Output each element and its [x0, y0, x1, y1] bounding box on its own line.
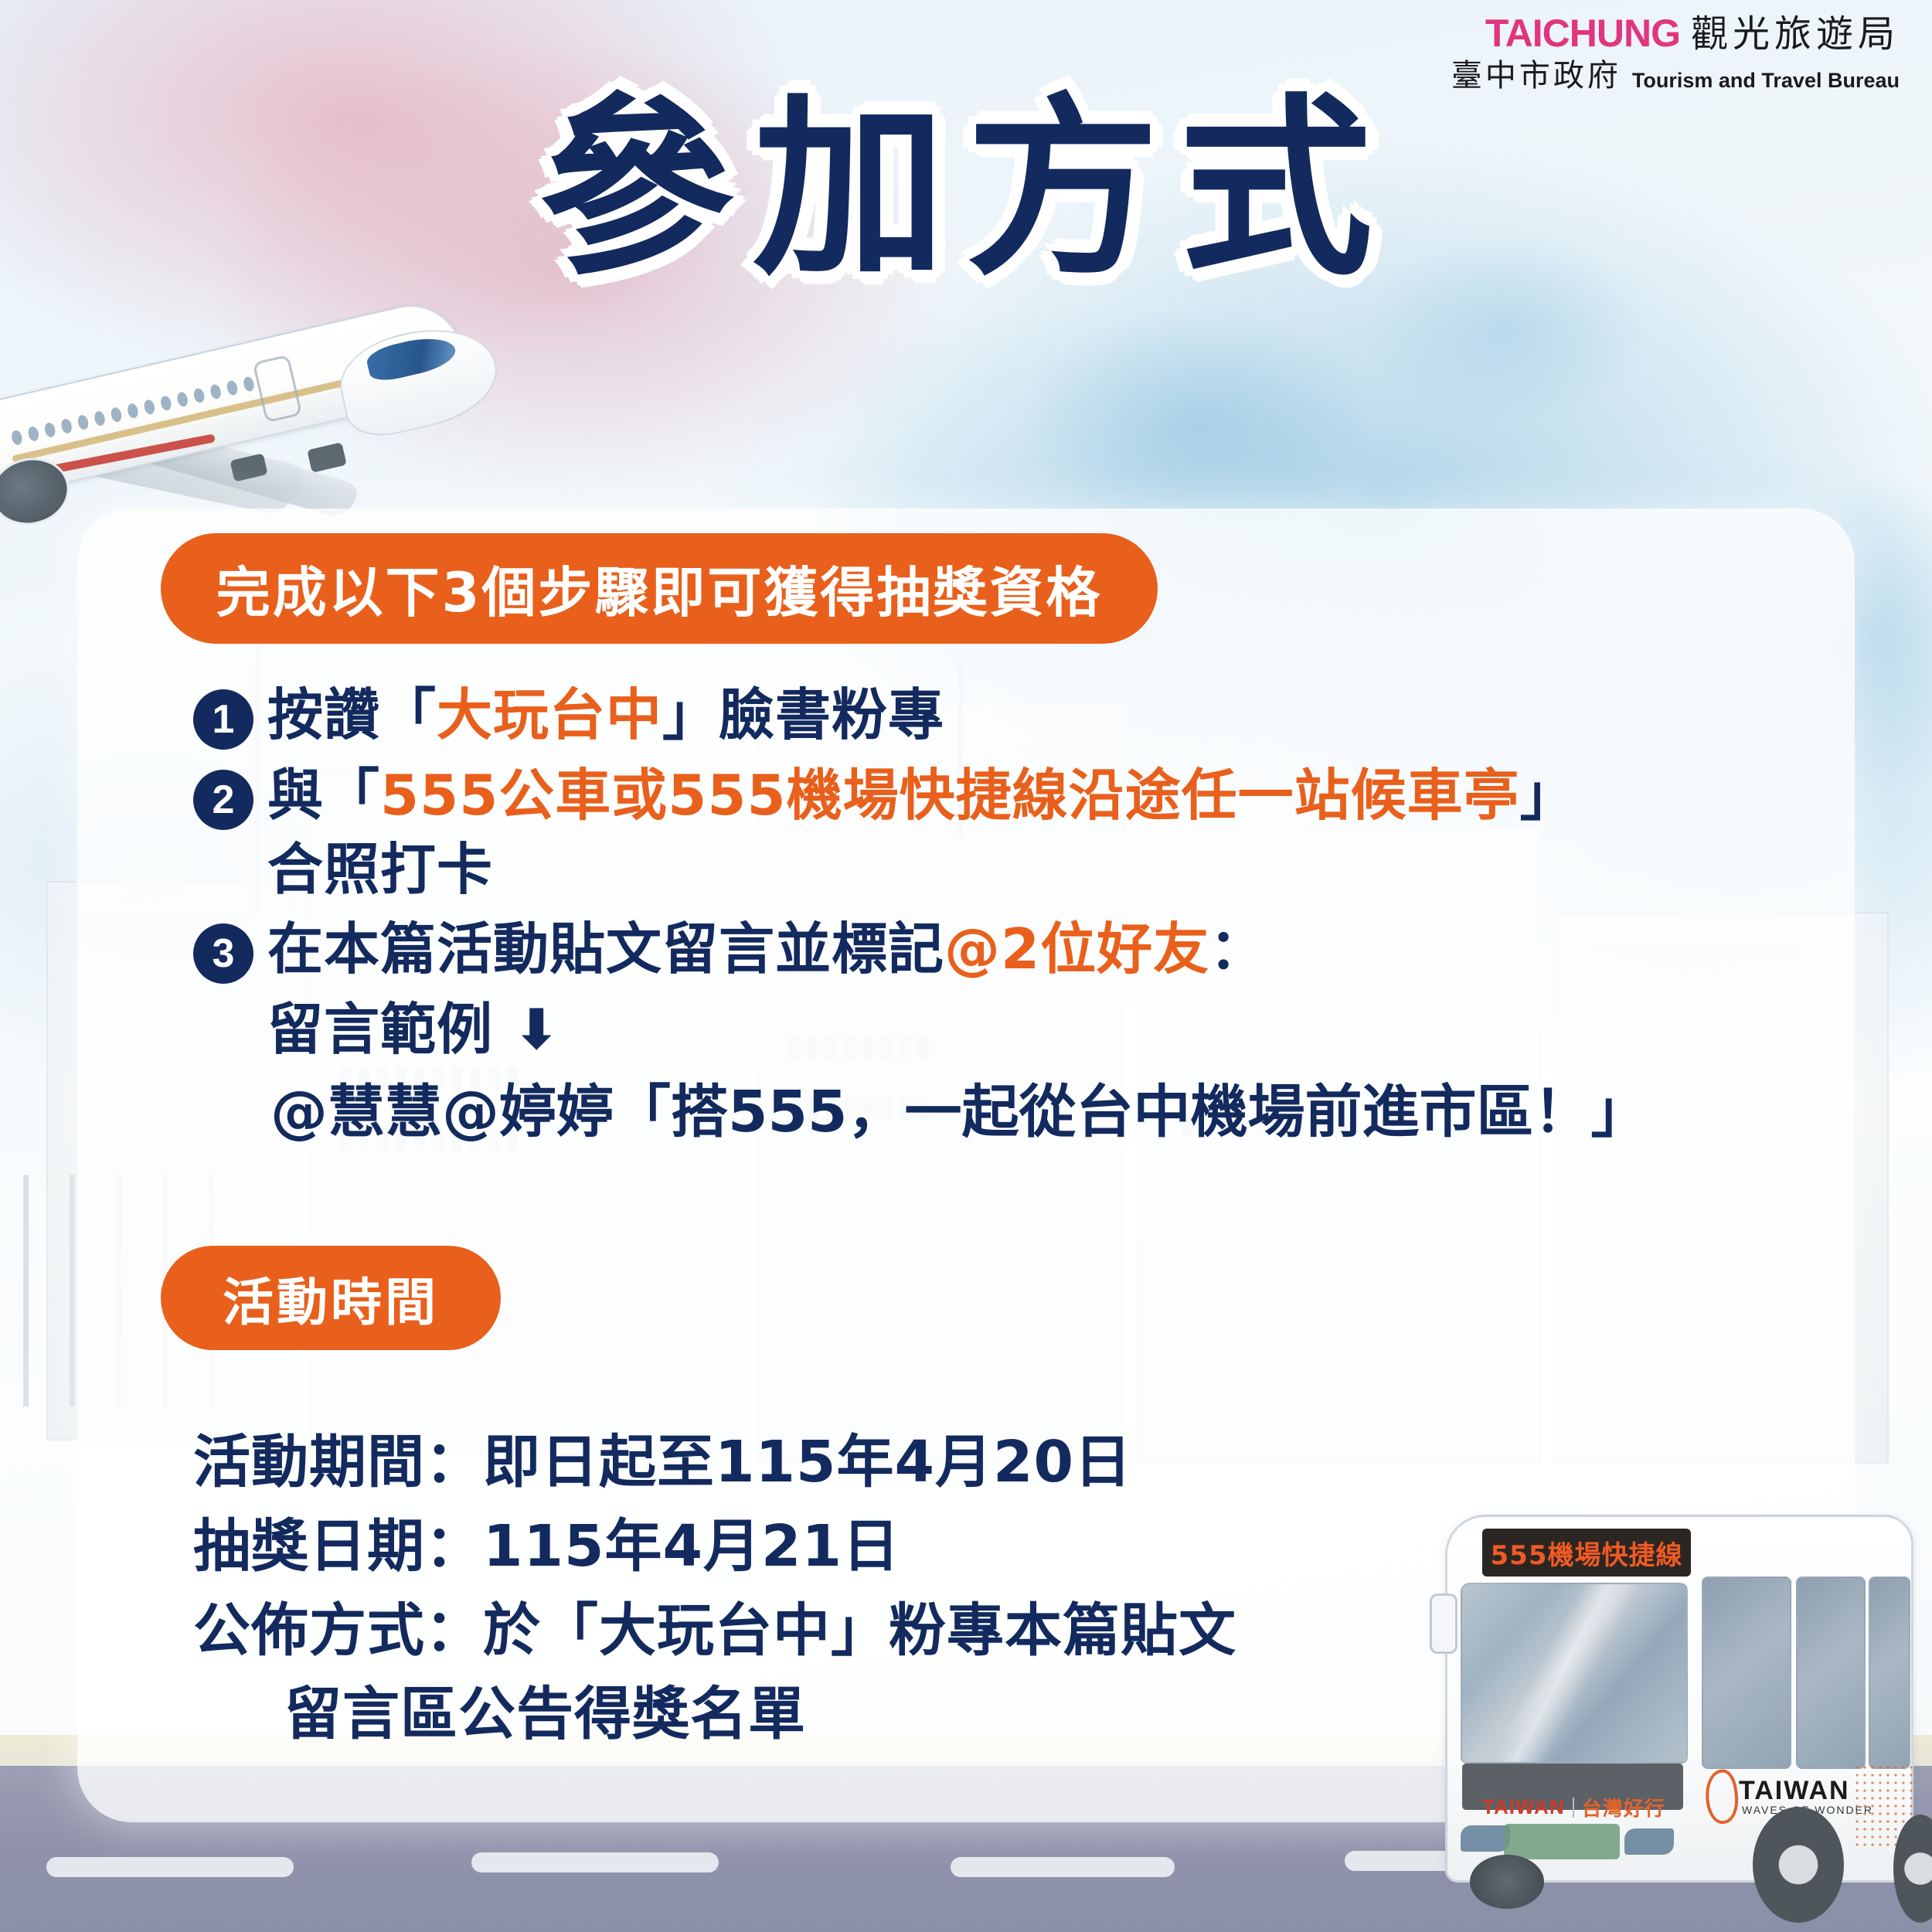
schedule-line-announcement: 公佈方式：於「大玩台中」粉專本篇貼文: [193, 1589, 1236, 1673]
logo-bureau-cn: 觀光旅遊局: [1691, 15, 1900, 53]
step-number-2: 2: [193, 770, 253, 830]
step-2-second-line: 合照打卡: [267, 833, 1577, 907]
step-number-1: 1: [193, 689, 253, 750]
steps-list: 1 按讚「大玩台中」臉書粉專 2 與「555公車或555機場快捷線沿途任一站候車…: [193, 679, 1839, 1149]
bus-front-brand-cn: 台灣好行: [1582, 1793, 1665, 1821]
step-2-prefix: 與「: [267, 763, 380, 828]
bus-illustration: 555機場快捷線 TAIWAN WAVES OF WONDER TAIWAN 台…: [1430, 1492, 1932, 1932]
comment-example-label: 留言範例 ⬇: [267, 993, 1839, 1067]
schedule-line-draw-date: 抽獎日期：115年4月21日: [193, 1505, 1236, 1589]
event-period-badge: 活動時間: [161, 1246, 501, 1350]
step-text-3: 在本篇活動貼文留言並標記@2位好友：: [267, 913, 1266, 987]
schedule-line-announcement-cont: 留言區公告得獎名單: [284, 1672, 1236, 1757]
logo-bureau-en: Tourism and Travel Bureau: [1632, 70, 1900, 91]
steps-header-badge: 完成以下3個步驟即可獲得抽獎資格: [161, 533, 1158, 644]
bus-front-brand: TAIWAN: [1482, 1795, 1565, 1819]
step-3-prefix: 在本篇活動貼文留言並標記: [267, 917, 944, 981]
step-1-suffix: 」臉書粉專: [662, 682, 944, 747]
step-1-prefix: 按讚「: [267, 682, 437, 747]
step-2-suffix: 」: [1520, 763, 1577, 828]
page-title: 參加方式: [0, 93, 1932, 286]
bus-front-branding: TAIWAN 台灣好行: [1482, 1793, 1665, 1821]
step-number-3: 3: [193, 923, 253, 984]
bus-led-destination-sign: 555機場快捷線: [1482, 1529, 1691, 1577]
taichung-tourism-logo: TAICHUNG 觀光旅遊局 臺中市政府 Tourism and Travel …: [1451, 14, 1900, 91]
step-item-1: 1 按讚「大玩台中」臉書粉專: [193, 679, 1839, 753]
step-text-2: 與「555公車或555機場快捷線沿途任一站候車亭」 合照打卡: [267, 759, 1577, 907]
step-1-highlight: 大玩台中: [437, 682, 662, 747]
bus-mirror: [1430, 1594, 1458, 1654]
step-3-highlight: @2位好友: [944, 917, 1209, 981]
step-item-2: 2 與「555公車或555機場快捷線沿途任一站候車亭」 合照打卡: [193, 759, 1839, 907]
step-2-highlight: 555公車或555機場快捷線沿途任一站候車亭: [380, 763, 1520, 828]
poster-canvas: TAICHUNG 觀光旅遊局 臺中市政府 Tourism and Travel …: [0, 0, 1932, 1932]
step-text-1: 按讚「大玩台中」臉書粉專: [267, 679, 944, 753]
step-3-suffix: ：: [1209, 917, 1266, 981]
comment-example-text: @慧慧@婷婷「搭555，一起從台中機場前進市區！」: [270, 1075, 1839, 1149]
schedule-block: 活動期間：即日起至115年4月20日 抽獎日期：115年4月21日 公佈方式：於…: [193, 1420, 1236, 1757]
logo-government-cn: 臺中市政府: [1451, 60, 1621, 91]
logo-brand-en: TAICHUNG: [1485, 14, 1680, 53]
schedule-line-period: 活動期間：即日起至115年4月20日: [193, 1420, 1236, 1505]
airplane-illustration: [0, 274, 518, 529]
step-item-3: 3 在本篇活動貼文留言並標記@2位好友：: [193, 913, 1839, 987]
bus-side-brand: TAIWAN: [1739, 1776, 1850, 1806]
